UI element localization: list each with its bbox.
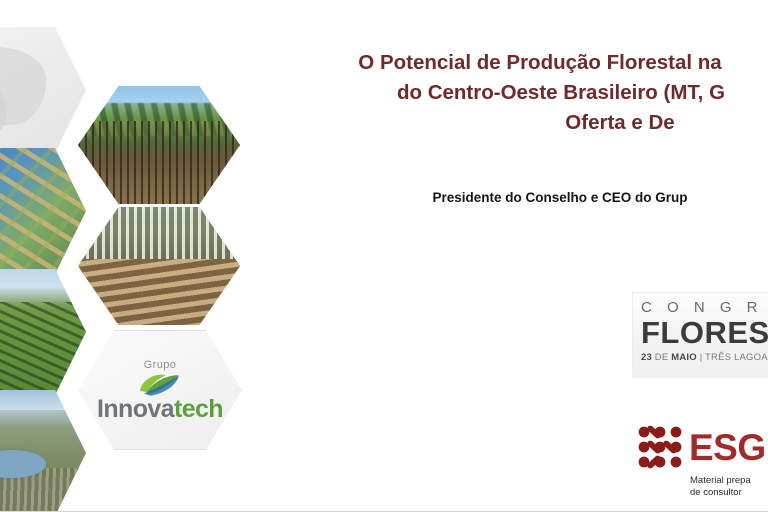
innovatech-wordmark-part2: tech <box>174 395 223 423</box>
hexagon-tile-brazil-map <box>0 27 86 153</box>
brazil-map-silhouette <box>0 47 46 125</box>
canopy-looking-up-image <box>0 148 86 274</box>
esg-disclaimer-text: Material prepa de consultor <box>690 475 768 499</box>
hexagon-tile-eucalyptus-stand <box>78 86 240 204</box>
congress-logo-date-line: 23 DE MAIO | TRÊS LAGOAS <box>641 352 768 363</box>
city-sky-layer <box>0 390 86 410</box>
congress-date-month: MAIO <box>671 352 697 363</box>
congress-logo-main-word: FLORESTA <box>641 316 768 350</box>
congress-date-place: TRÊS LAGOAS <box>705 352 768 363</box>
congress-date-day: 23 <box>641 352 652 363</box>
speaker-role-label: Presidente do Conselho e CEO do Grup <box>300 190 768 205</box>
background-forest-layer <box>78 207 240 264</box>
esg-disclaimer-line-2: de consultor <box>690 487 768 499</box>
eucalyptus-stand-image <box>78 86 240 204</box>
esg-logo-row: ESG <box>636 424 768 470</box>
brazil-map-image <box>0 27 86 153</box>
hexagon-tile-harvested-logs <box>78 207 240 325</box>
presentation-slide: Grupo Innovatech O Potenc <box>0 0 768 512</box>
harvested-logs-image <box>78 207 240 325</box>
hexagon-photo-mosaic: Grupo Innovatech <box>0 0 250 512</box>
innovatech-wordmark: Innovatech <box>97 397 223 422</box>
title-line-2: do Centro-Oeste Brasileiro (MT, G <box>260 78 768 108</box>
esg-disclaimer-line-1: Material prepa <box>690 475 768 487</box>
eucalyptus-trunks-layer <box>78 121 240 204</box>
esg-network-dots-icon <box>636 424 684 470</box>
esg-wordmark: ESG <box>689 429 766 466</box>
hexagon-tile-aerial-plantation <box>0 269 86 395</box>
slide-title: O Potencial de Produção Florestal na do … <box>260 48 768 138</box>
hexagon-tile-innovatech-logo: Grupo Innovatech <box>78 330 242 450</box>
congress-date-separator: | <box>697 352 705 363</box>
log-pile-layer <box>78 259 240 325</box>
aerial-plantation-image <box>0 269 86 395</box>
innovatech-leaf-icon <box>138 372 182 396</box>
congress-logo-top-word: C O N G R E S S <box>641 299 768 316</box>
aerial-city-lake-image <box>0 390 86 512</box>
hexagon-tile-aerial-city-lake <box>0 390 86 512</box>
tree-foliage-rays <box>0 148 86 274</box>
esg-logo-block: ESG Material prepa de consultor <box>636 424 768 504</box>
congress-logo: C O N G R E S S FLORESTA 23 DE MAIO | TR… <box>632 292 768 378</box>
title-line-3: Oferta e De <box>260 108 768 138</box>
congress-date-de: DE <box>652 352 671 363</box>
speaker-info: Presidente do Conselho e CEO do Grup <box>300 190 768 205</box>
hexagon-tile-canopy-looking-up <box>0 148 86 274</box>
plantation-row-lines <box>0 302 86 395</box>
innovatech-wordmark-part1: Innova <box>97 395 174 423</box>
title-line-1: O Potencial de Produção Florestal na <box>260 48 768 78</box>
innovatech-eyebrow-label: Grupo <box>144 359 177 371</box>
